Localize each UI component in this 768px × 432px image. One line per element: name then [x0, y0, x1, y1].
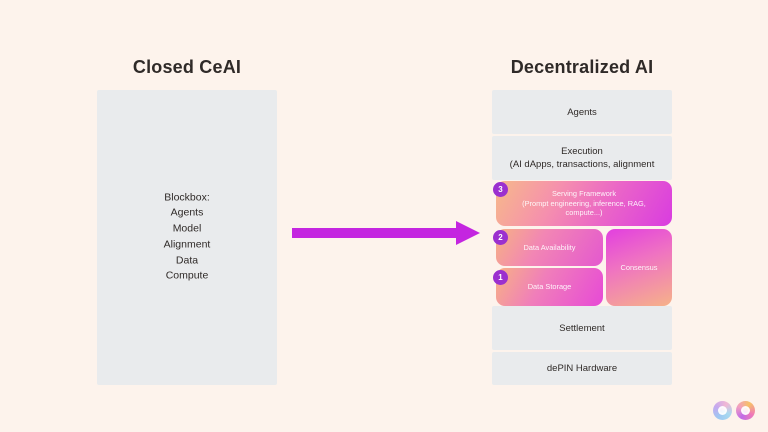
- logo-badge-two-icon[interactable]: [736, 401, 755, 420]
- decentralized-ai-stack: Agents Execution (AI dApps, transactions…: [492, 90, 672, 385]
- card-title: Serving Framework: [522, 189, 646, 199]
- card-badge-3[interactable]: 3: [493, 182, 508, 197]
- card-subtitle-2: compute...): [522, 208, 646, 218]
- list-item: Model: [97, 222, 277, 238]
- card-title: Consensus: [607, 263, 672, 273]
- execution-title: Execution: [510, 145, 655, 158]
- stack-layer-depin-hardware: dePIN Hardware: [492, 352, 672, 385]
- stack-layer-execution: Execution (AI dApps, transactions, align…: [492, 136, 672, 180]
- list-item: Compute: [97, 269, 277, 285]
- arrow-right-icon: [292, 218, 482, 248]
- stack-layer-label: dePIN Hardware: [547, 362, 617, 375]
- card-badge-2[interactable]: 2: [493, 230, 508, 245]
- list-item: Agents: [97, 206, 277, 222]
- card-subtitle: (Prompt engineering, inference, RAG,: [522, 199, 646, 209]
- card-serving-framework[interactable]: Serving Framework (Prompt engineering, i…: [496, 181, 672, 226]
- card-consensus[interactable]: Consensus: [606, 229, 672, 306]
- stack-layer-agents: Agents: [492, 90, 672, 134]
- logo-badge-one-icon[interactable]: [713, 401, 732, 420]
- card-data-storage[interactable]: Data Storage: [496, 268, 603, 306]
- footer-logos: [713, 401, 755, 420]
- execution-subtitle: (AI dApps, transactions, alignment: [510, 158, 655, 171]
- stack-layer-settlement: Settlement: [492, 306, 672, 350]
- closed-ceai-box: Blockbox: Agents Model Alignment Data Co…: [97, 90, 277, 385]
- card-title: Data Availability: [509, 243, 589, 253]
- right-panel-title: Decentralized AI: [492, 57, 672, 78]
- logo-inner-ring: [718, 406, 727, 415]
- stack-layer-label: Agents: [567, 106, 597, 119]
- list-item: Blockbox:: [97, 190, 277, 206]
- card-title: Data Storage: [514, 282, 586, 292]
- left-panel-title: Closed CeAI: [97, 57, 277, 78]
- card-badge-1[interactable]: 1: [493, 270, 508, 285]
- transition-arrow: [292, 218, 482, 248]
- list-item: Alignment: [97, 238, 277, 254]
- list-item: Data: [97, 253, 277, 269]
- stack-layer-label: Settlement: [559, 322, 604, 335]
- closed-ceai-list: Blockbox: Agents Model Alignment Data Co…: [97, 190, 277, 285]
- slide-canvas: Closed CeAI Blockbox: Agents Model Align…: [0, 0, 768, 432]
- logo-inner-ring: [741, 406, 750, 415]
- card-data-availability[interactable]: Data Availability: [496, 229, 603, 266]
